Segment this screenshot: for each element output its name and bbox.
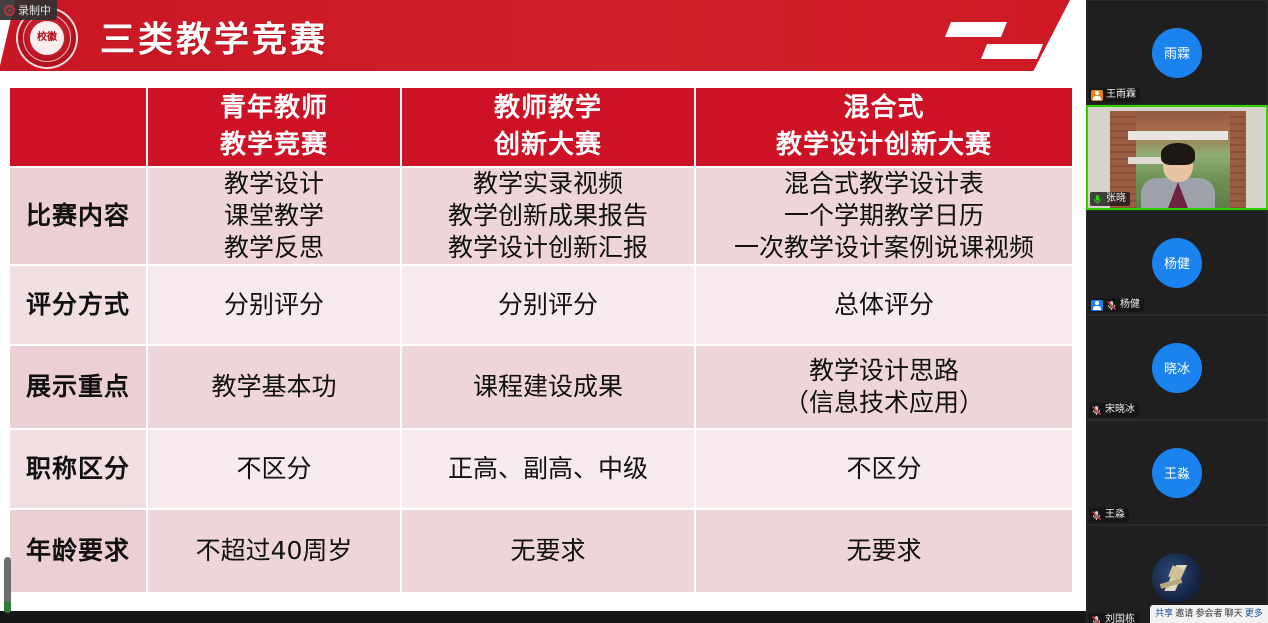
- record-icon: [4, 5, 15, 16]
- avatar-image: [1152, 553, 1202, 603]
- banner-decoration-top: [945, 22, 1007, 37]
- header-line-1: 混合式: [696, 90, 1072, 127]
- avatar: 王淼: [1152, 448, 1202, 498]
- cell-line: 教学实录视频: [402, 168, 694, 200]
- cell-line: 教学设计思路: [696, 355, 1072, 387]
- row-label-title-rank: 职称区分: [10, 430, 146, 508]
- mic-muted-icon: [1091, 405, 1102, 416]
- slide-scrollbar-accent[interactable]: [4, 601, 11, 613]
- meeting-toolbar[interactable]: 共享 邀请 参会者 聊天 更多: [1150, 605, 1268, 623]
- video-background: [1110, 111, 1246, 208]
- header-cell-blank: [10, 88, 146, 166]
- mic-on-icon: [1092, 194, 1103, 205]
- participant-tile-active-speaker[interactable]: 张晓: [1086, 105, 1268, 210]
- slide-scrollbar-thumb[interactable]: [4, 557, 11, 607]
- avatar: 雨霖: [1152, 28, 1202, 78]
- toolbar-item-participants[interactable]: 参会者: [1195, 610, 1222, 619]
- table-row: 比赛内容 教学设计 课堂教学 教学反思 教学实录视频 教学创新成果报告 教学设计…: [10, 168, 1072, 264]
- toolbar-item-more[interactable]: 更多: [1245, 610, 1263, 619]
- toolbar-item-share[interactable]: 共享: [1155, 610, 1173, 619]
- table-row: 展示重点 教学基本功 课程建设成果 教学设计思路 （信息技术应用）: [10, 346, 1072, 428]
- video-bg-ledge: [1128, 131, 1228, 140]
- cell-line: （信息技术应用）: [696, 387, 1072, 419]
- cell-focus-innovation: 课程建设成果: [402, 346, 694, 428]
- participant-name: 王雨霖: [1106, 89, 1136, 101]
- cell-content-blended: 混合式教学设计表 一个学期教学日历 一次教学设计案例说课视频: [696, 168, 1072, 264]
- participant-namebar: 王雨霖: [1089, 88, 1140, 102]
- slide-header-banner: 校徽 三类教学竞赛: [0, 0, 1086, 74]
- mic-muted-icon: [1106, 300, 1117, 311]
- header-cell-teaching-innovation: 教师教学 创新大赛: [402, 88, 694, 166]
- cell-age-innovation: 无要求: [402, 510, 694, 592]
- cell-focus-blended: 教学设计思路 （信息技术应用）: [696, 346, 1072, 428]
- recording-label: 录制中: [18, 2, 51, 18]
- mic-muted-icon: [1091, 510, 1102, 521]
- table-body: 比赛内容 教学设计 课堂教学 教学反思 教学实录视频 教学创新成果报告 教学设计…: [10, 168, 1072, 592]
- video-person: [1141, 146, 1215, 208]
- seal-ring: [23, 14, 71, 62]
- participant-name: 张晓: [1106, 193, 1126, 205]
- participant-namebar: 宋晓冰: [1089, 403, 1139, 417]
- avatar: 晓冰: [1152, 343, 1202, 393]
- table-row: 年龄要求 不超过40周岁 无要求 无要求: [10, 510, 1072, 592]
- avatar: 杨健: [1152, 238, 1202, 288]
- mic-muted-icon: [1091, 615, 1102, 623]
- competition-comparison-table: 青年教师 教学竞赛 教师教学 创新大赛 混合式 教学设计创新大赛: [8, 86, 1074, 594]
- participant-filmstrip[interactable]: 雨霖 王雨霖: [1086, 0, 1268, 623]
- cell-scoring-blended: 总体评分: [696, 266, 1072, 344]
- participant-namebar: 刘国栋: [1089, 613, 1139, 623]
- cell-focus-youth: 教学基本功: [148, 346, 400, 428]
- header-line-1: 教师教学: [402, 90, 694, 127]
- header-cell-blended: 混合式 教学设计创新大赛: [696, 88, 1072, 166]
- participant-namebar: 王淼: [1089, 508, 1129, 522]
- comparison-table-wrap: 青年教师 教学竞赛 教师教学 创新大赛 混合式 教学设计创新大赛: [0, 74, 1086, 594]
- participant-namebar: 杨健: [1089, 298, 1144, 312]
- table-row: 评分方式 分别评分 分别评分 总体评分: [10, 266, 1072, 344]
- presentation-slide: 校徽 三类教学竞赛 青年教师: [0, 0, 1086, 611]
- banner-underline: [0, 71, 1086, 74]
- participant-name: 杨健: [1120, 299, 1140, 311]
- cell-content-innovation: 教学实录视频 教学创新成果报告 教学设计创新汇报: [402, 168, 694, 264]
- cell-content-youth: 教学设计 课堂教学 教学反思: [148, 168, 400, 264]
- header-line-2: 教学设计创新大赛: [696, 127, 1072, 164]
- row-label-age: 年龄要求: [10, 510, 146, 592]
- cell-line: 一个学期教学日历: [696, 200, 1072, 232]
- host-badge-icon: [1091, 300, 1103, 311]
- satellite-avatar-icon: [1158, 565, 1196, 591]
- header-cell-youth-teacher: 青年教师 教学竞赛: [148, 88, 400, 166]
- participant-name: 王淼: [1105, 509, 1125, 521]
- table-row: 职称区分 不区分 正高、副高、中级 不区分: [10, 430, 1072, 508]
- participant-name: 刘国栋: [1105, 614, 1135, 623]
- shared-screen-stage: 校徽 三类教学竞赛 青年教师: [0, 0, 1086, 623]
- cell-rank-blended: 不区分: [696, 430, 1072, 508]
- meeting-window: 校徽 三类教学竞赛 青年教师: [0, 0, 1268, 623]
- participant-tile[interactable]: 王淼 王淼: [1086, 420, 1268, 525]
- cell-rank-youth: 不区分: [148, 430, 400, 508]
- participant-namebar: 张晓: [1090, 192, 1130, 206]
- recording-indicator[interactable]: 录制中: [0, 0, 57, 20]
- cell-line: 教学设计创新汇报: [402, 232, 694, 264]
- row-label-content: 比赛内容: [10, 168, 146, 264]
- cell-age-blended: 无要求: [696, 510, 1072, 592]
- header-line-2: 教学竞赛: [148, 127, 400, 164]
- row-label-scoring: 评分方式: [10, 266, 146, 344]
- cell-scoring-innovation: 分别评分: [402, 266, 694, 344]
- cell-rank-innovation: 正高、副高、中级: [402, 430, 694, 508]
- participant-name: 宋晓冰: [1105, 404, 1135, 416]
- header-line-2: 创新大赛: [402, 127, 694, 164]
- host-badge-icon: [1091, 90, 1103, 101]
- cell-line: 教学设计: [148, 168, 400, 200]
- cell-scoring-youth: 分别评分: [148, 266, 400, 344]
- cell-line: 课堂教学: [148, 200, 400, 232]
- cell-line: 教学创新成果报告: [402, 200, 694, 232]
- page-title: 三类教学竞赛: [100, 12, 328, 63]
- toolbar-item-invite[interactable]: 邀请: [1175, 610, 1193, 619]
- stage-bottom-bar: [0, 611, 1086, 623]
- banner-decoration-bottom: [981, 44, 1043, 59]
- toolbar-item-chat[interactable]: 聊天: [1225, 610, 1243, 619]
- person-hair: [1161, 143, 1195, 165]
- cell-line: 混合式教学设计表: [696, 168, 1072, 200]
- cell-line: 一次教学设计案例说课视频: [696, 232, 1072, 264]
- participant-tile[interactable]: 雨霖 王雨霖: [1086, 0, 1268, 105]
- cell-age-youth: 不超过40周岁: [148, 510, 400, 592]
- row-label-focus: 展示重点: [10, 346, 146, 428]
- cell-line: 教学反思: [148, 232, 400, 264]
- video-bg-wall-right: [1230, 111, 1246, 208]
- participant-tile[interactable]: 晓冰 宋晓冰: [1086, 315, 1268, 420]
- table-header: 青年教师 教学竞赛 教师教学 创新大赛 混合式 教学设计创新大赛: [10, 88, 1072, 166]
- participant-tile[interactable]: 杨健 杨健: [1086, 210, 1268, 315]
- header-line-1: 青年教师: [148, 90, 400, 127]
- table-header-row: 青年教师 教学竞赛 教师教学 创新大赛 混合式 教学设计创新大赛: [10, 88, 1072, 166]
